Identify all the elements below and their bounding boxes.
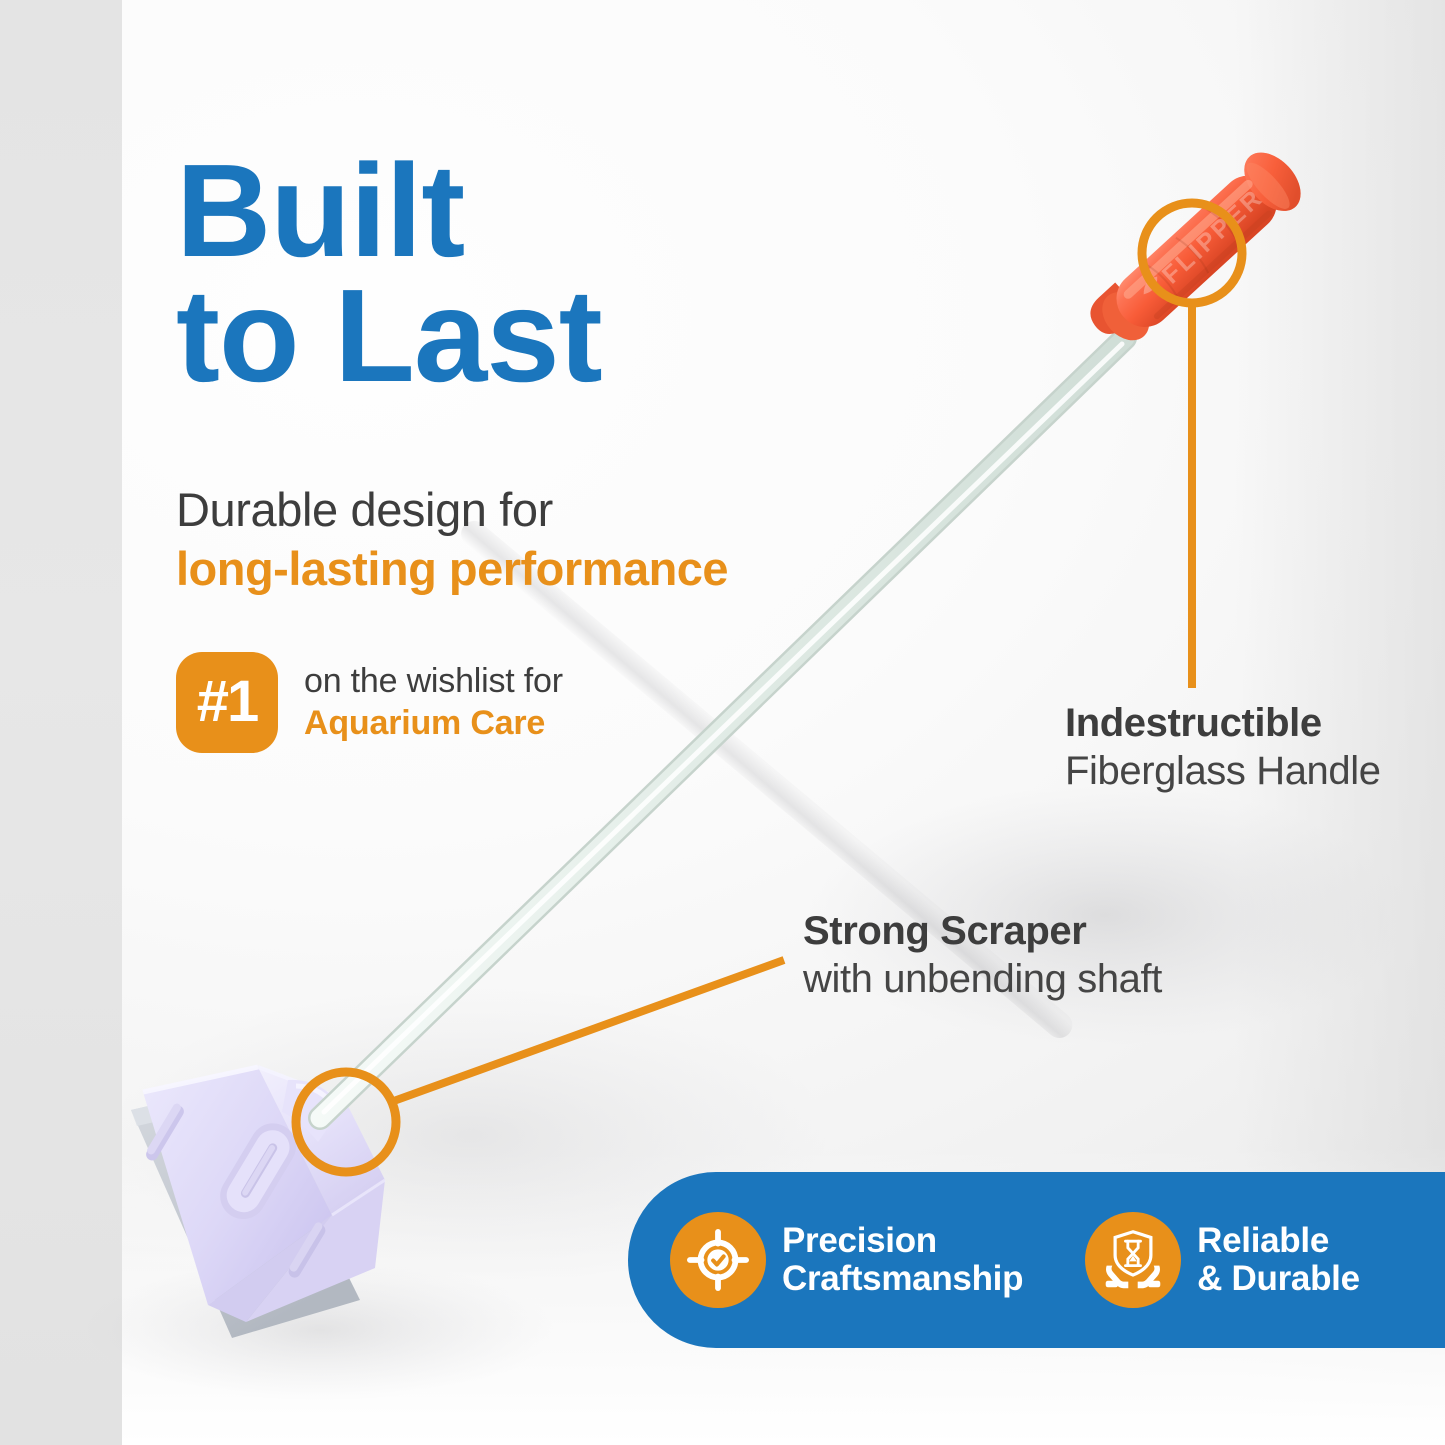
callout-scraper-subtitle: with unbending shaft [803,955,1243,1003]
callout-handle: Indestructible Fiberglass Handle [1065,700,1445,795]
subtitle-line-1: Durable design for [176,482,856,537]
wishlist-text-block: on the wishlist for Aquarium Care [304,661,563,744]
badge-reliable-durable: Reliable & Durable [1085,1212,1360,1308]
hands-hourglass-shield-icon [1101,1228,1165,1292]
badge-icon-wrapper [1085,1212,1181,1308]
callout-scraper: Strong Scraper with unbending shaft [803,908,1243,1003]
wishlist-rank-row: #1 on the wishlist for Aquarium Care [176,652,563,753]
badge-precision-craftsmanship-label: Precision Craftsmanship [782,1222,1023,1299]
wishlist-line-1: on the wishlist for [304,661,563,702]
callout-handle-subtitle: Fiberglass Handle [1065,747,1445,795]
callout-handle-title: Indestructible [1065,700,1445,747]
subtitle-line-2: long-lasting performance [176,541,856,597]
callout-scraper-title: Strong Scraper [803,908,1243,955]
badge-precision-craftsmanship: Precision Craftsmanship [670,1212,1023,1308]
feature-banner: Precision Craftsmanship [628,1172,1445,1348]
infographic-canvas: FLIPPER [0,0,1445,1445]
rank-badge: #1 [176,652,278,753]
badge-reliable-durable-label: Reliable & Durable [1197,1222,1360,1299]
subtitle-block: Durable design for long-lasting performa… [176,482,856,598]
wishlist-line-2: Aquarium Care [304,702,563,745]
page-title: Built to Last [176,148,876,399]
background-left-strip [0,0,122,1445]
badge-icon-wrapper [670,1212,766,1308]
target-check-icon [687,1229,749,1291]
